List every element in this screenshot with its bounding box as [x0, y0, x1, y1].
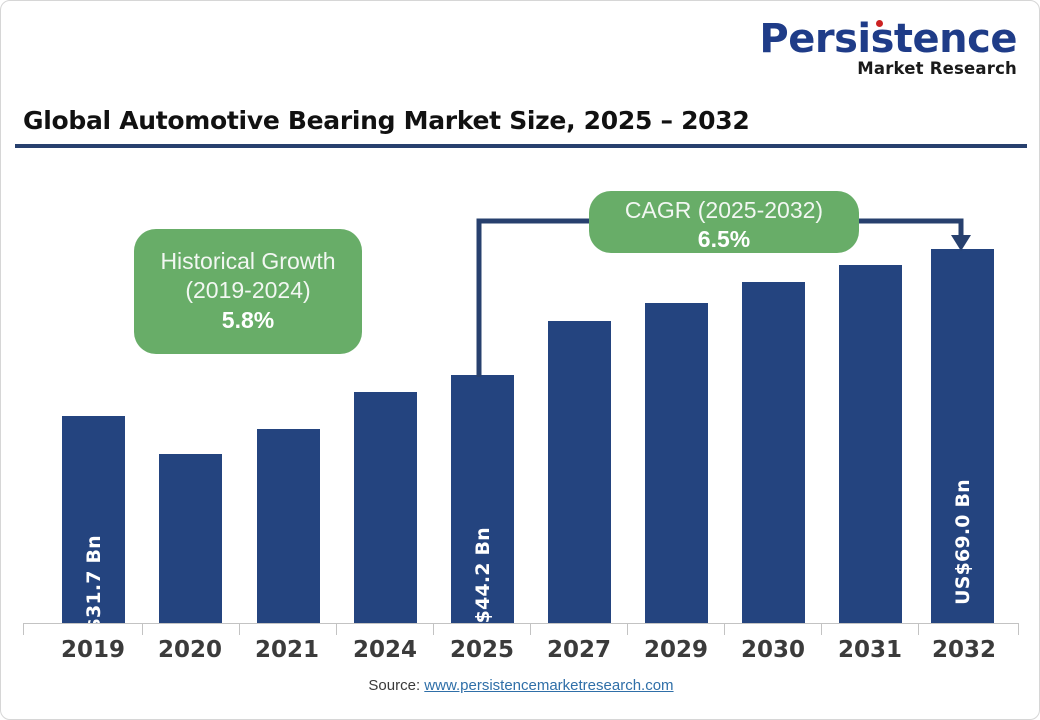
source-note: Source: www.persistencemarketresearch.co…	[1, 677, 1040, 694]
axis-tick	[239, 623, 240, 635]
bar-chart: US$31.7 Bn US$44.2 Bn US$69.0 Bn 2019 20…	[1, 1, 1040, 720]
bar-label-2025: US$44.2 Bn	[472, 527, 494, 653]
cagr-value: 6.5%	[589, 225, 859, 255]
bar-2020[interactable]	[159, 454, 222, 623]
bar-2030[interactable]	[742, 282, 805, 623]
x-label-2027: 2027	[531, 637, 627, 663]
x-label-2032: 2032	[916, 637, 1012, 663]
x-label-2019: 2019	[45, 637, 141, 663]
x-axis-line	[23, 623, 1019, 624]
x-label-2020: 2020	[142, 637, 238, 663]
bar-2027[interactable]	[548, 321, 611, 623]
bar-2029[interactable]	[645, 303, 708, 623]
x-label-2025: 2025	[434, 637, 530, 663]
source-link[interactable]: www.persistencemarketresearch.com	[424, 677, 673, 694]
chart-page: Persistence Market Research Global Autom…	[0, 0, 1040, 720]
axis-tick	[530, 623, 531, 635]
axis-tick	[627, 623, 628, 635]
bar-2019[interactable]: US$31.7 Bn	[62, 416, 125, 623]
historical-growth-callout: Historical Growth (2019-2024) 5.8%	[134, 229, 362, 354]
cagr-callout: CAGR (2025-2032) 6.5%	[589, 191, 859, 253]
axis-tick	[918, 623, 919, 635]
bar-label-2032: US$69.0 Bn	[952, 479, 974, 605]
axis-tick	[821, 623, 822, 635]
x-label-2031: 2031	[822, 637, 918, 663]
bar-2021[interactable]	[257, 429, 320, 623]
axis-tick	[433, 623, 434, 635]
bar-2024[interactable]	[354, 392, 417, 623]
historical-growth-line1: Historical Growth	[134, 247, 362, 276]
source-prefix: Source:	[368, 677, 424, 694]
x-label-2021: 2021	[239, 637, 335, 663]
x-label-2024: 2024	[337, 637, 433, 663]
bar-2032[interactable]: US$69.0 Bn	[931, 249, 994, 623]
bar-2025[interactable]: US$44.2 Bn	[451, 375, 514, 623]
x-label-2029: 2029	[628, 637, 724, 663]
axis-tick	[23, 623, 24, 635]
axis-tick	[336, 623, 337, 635]
axis-tick	[724, 623, 725, 635]
axis-tick	[142, 623, 143, 635]
bar-2031[interactable]	[839, 265, 902, 623]
axis-tick	[1018, 623, 1019, 635]
cagr-line1: CAGR (2025-2032)	[589, 196, 859, 225]
x-label-2030: 2030	[725, 637, 821, 663]
historical-growth-line2: (2019-2024)	[134, 276, 362, 305]
historical-growth-value: 5.8%	[134, 306, 362, 336]
